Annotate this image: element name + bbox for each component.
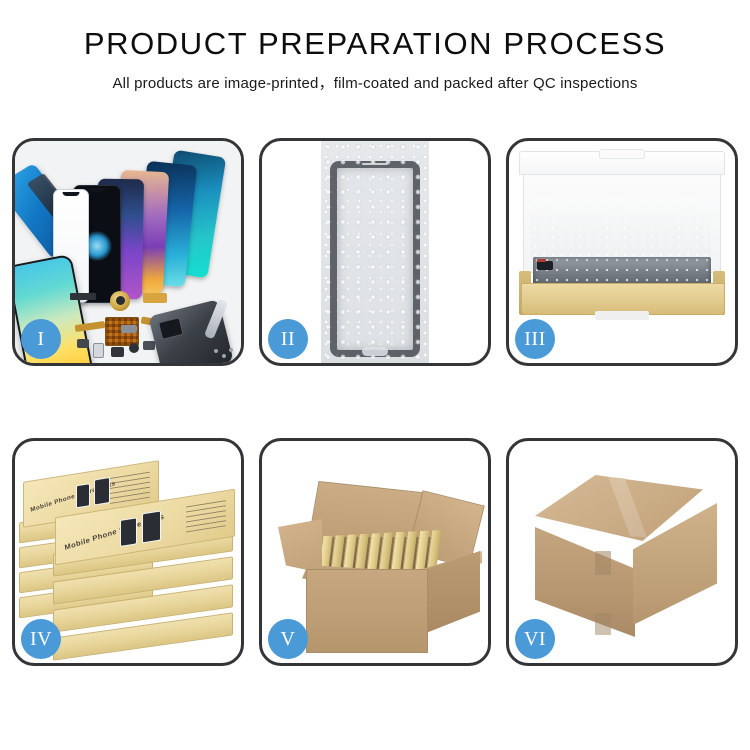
carton-seam-lower [595,613,611,635]
part-speaker-coil [110,291,130,311]
step-badge-1: I [21,319,61,359]
printed-spec-lines [186,498,226,532]
phone-notch [63,192,80,196]
step-badge-6: VI [515,619,555,659]
page-title: PRODUCT PREPARATION PROCESS [0,28,750,61]
printed-phone-thumb-2 [142,510,161,543]
step-badge-5: V [268,619,308,659]
home-button [362,347,388,356]
box-closure-tab [595,311,649,320]
process-step-panel-4[interactable]: Mobile Phone Spare Parts Mobile Phone Sp… [12,438,244,666]
part-small-3 [111,347,124,357]
part-small-2 [93,343,104,358]
process-step-grid: I II III [12,138,738,666]
carton-seam-upper [595,551,611,575]
part-small-4 [129,343,139,353]
process-step-panel-1[interactable]: I [12,138,244,366]
process-step-panel-5[interactable]: V [259,438,491,666]
part-small-5 [143,341,155,350]
carton-flap-left [278,519,322,573]
carton-front-wall [306,569,428,653]
wrapped-phone-glass [330,161,420,357]
printed-phone-thumb-1 [76,483,90,508]
part-small-1 [77,339,89,348]
process-step-panel-6[interactable]: VI [506,438,738,666]
printed-spec-lines [110,470,150,504]
sealed-carton-left-face [535,527,635,637]
process-step-panel-3[interactable]: III [506,138,738,366]
printed-phone-thumb-2 [94,477,110,506]
page-header: PRODUCT PREPARATION PROCESS All products… [0,0,750,93]
bubble-wrap-sheet [321,141,429,363]
packed-screen-assembly [533,257,711,286]
part-small-6 [121,325,137,333]
step-badge-4: IV [21,619,61,659]
step-badge-3: III [515,319,555,359]
box-lid-flap [519,151,725,175]
phone-notch [89,188,106,192]
part-connector-bar [70,293,96,300]
part-flex-cable-top [143,293,167,303]
step-badge-2: II [268,319,308,359]
part-screws [213,347,235,363]
process-step-panel-2[interactable]: II [259,138,491,366]
white-foam-padding [531,197,711,259]
printed-phone-thumb-1 [120,517,137,547]
page-subtitle: All products are image-printed，film-coat… [0,72,750,93]
